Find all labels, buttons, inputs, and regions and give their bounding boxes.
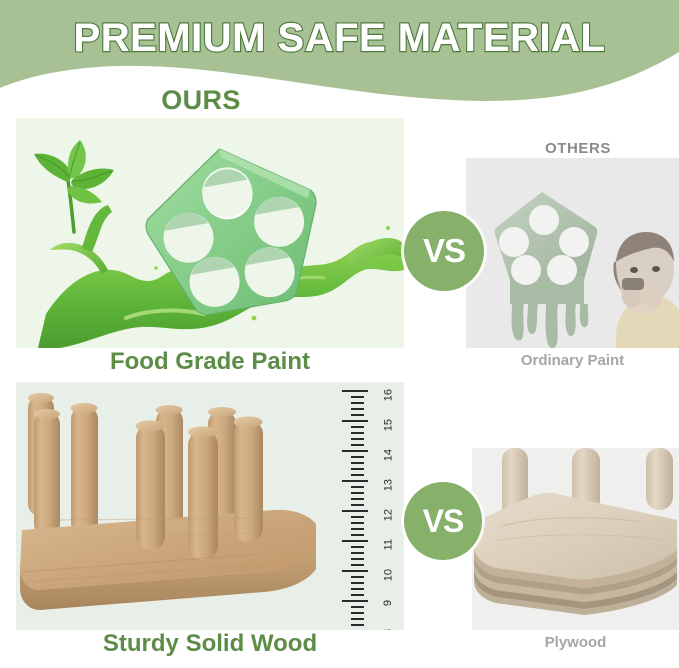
ruler-label-9: 9	[382, 600, 394, 606]
ruler-label-10: 10	[382, 569, 394, 581]
panel-ours-wood: 16 15 14 13 12	[16, 382, 404, 630]
label-ours: OURS	[96, 85, 306, 116]
product-pentagon-toy	[130, 124, 358, 336]
ruler-label-11: 11	[382, 539, 394, 550]
caption-food-grade-paint: Food Grade Paint	[16, 348, 404, 376]
peg-front-row	[136, 417, 264, 561]
pentagon-peg-board-shape	[130, 127, 337, 326]
ruler-label-15: 15	[382, 419, 394, 431]
caption-ordinary-paint: Ordinary Paint	[466, 352, 679, 369]
plywood-base-graphic	[472, 448, 679, 630]
vs-badge-bottom: VS	[404, 482, 482, 560]
panel-others-plywood	[472, 448, 679, 630]
ruler-label-14: 14	[382, 449, 394, 461]
ruler-label-13: 13	[382, 479, 394, 491]
tea-sprout-icon	[26, 136, 146, 256]
others-paint-graphic	[466, 158, 679, 348]
caption-plywood: Plywood	[472, 634, 679, 651]
ruler-label-16: 16	[382, 389, 394, 401]
measuring-ruler: 16 15 14 13 12	[334, 384, 390, 628]
label-others: OTHERS	[478, 140, 678, 157]
panel-others-paint	[466, 158, 679, 348]
ruler-label-12: 12	[382, 509, 394, 521]
vs-badge-top: VS	[404, 211, 484, 291]
caption-sturdy-solid-wood: Sturdy Solid Wood	[16, 630, 404, 658]
infographic-root: PREMIUM SAFE MATERIAL PREMIUM SAFE MATER…	[0, 0, 679, 668]
page-title-fill: PREMIUM SAFE MATERIAL	[0, 17, 679, 59]
panel-ours-paint	[16, 118, 404, 348]
